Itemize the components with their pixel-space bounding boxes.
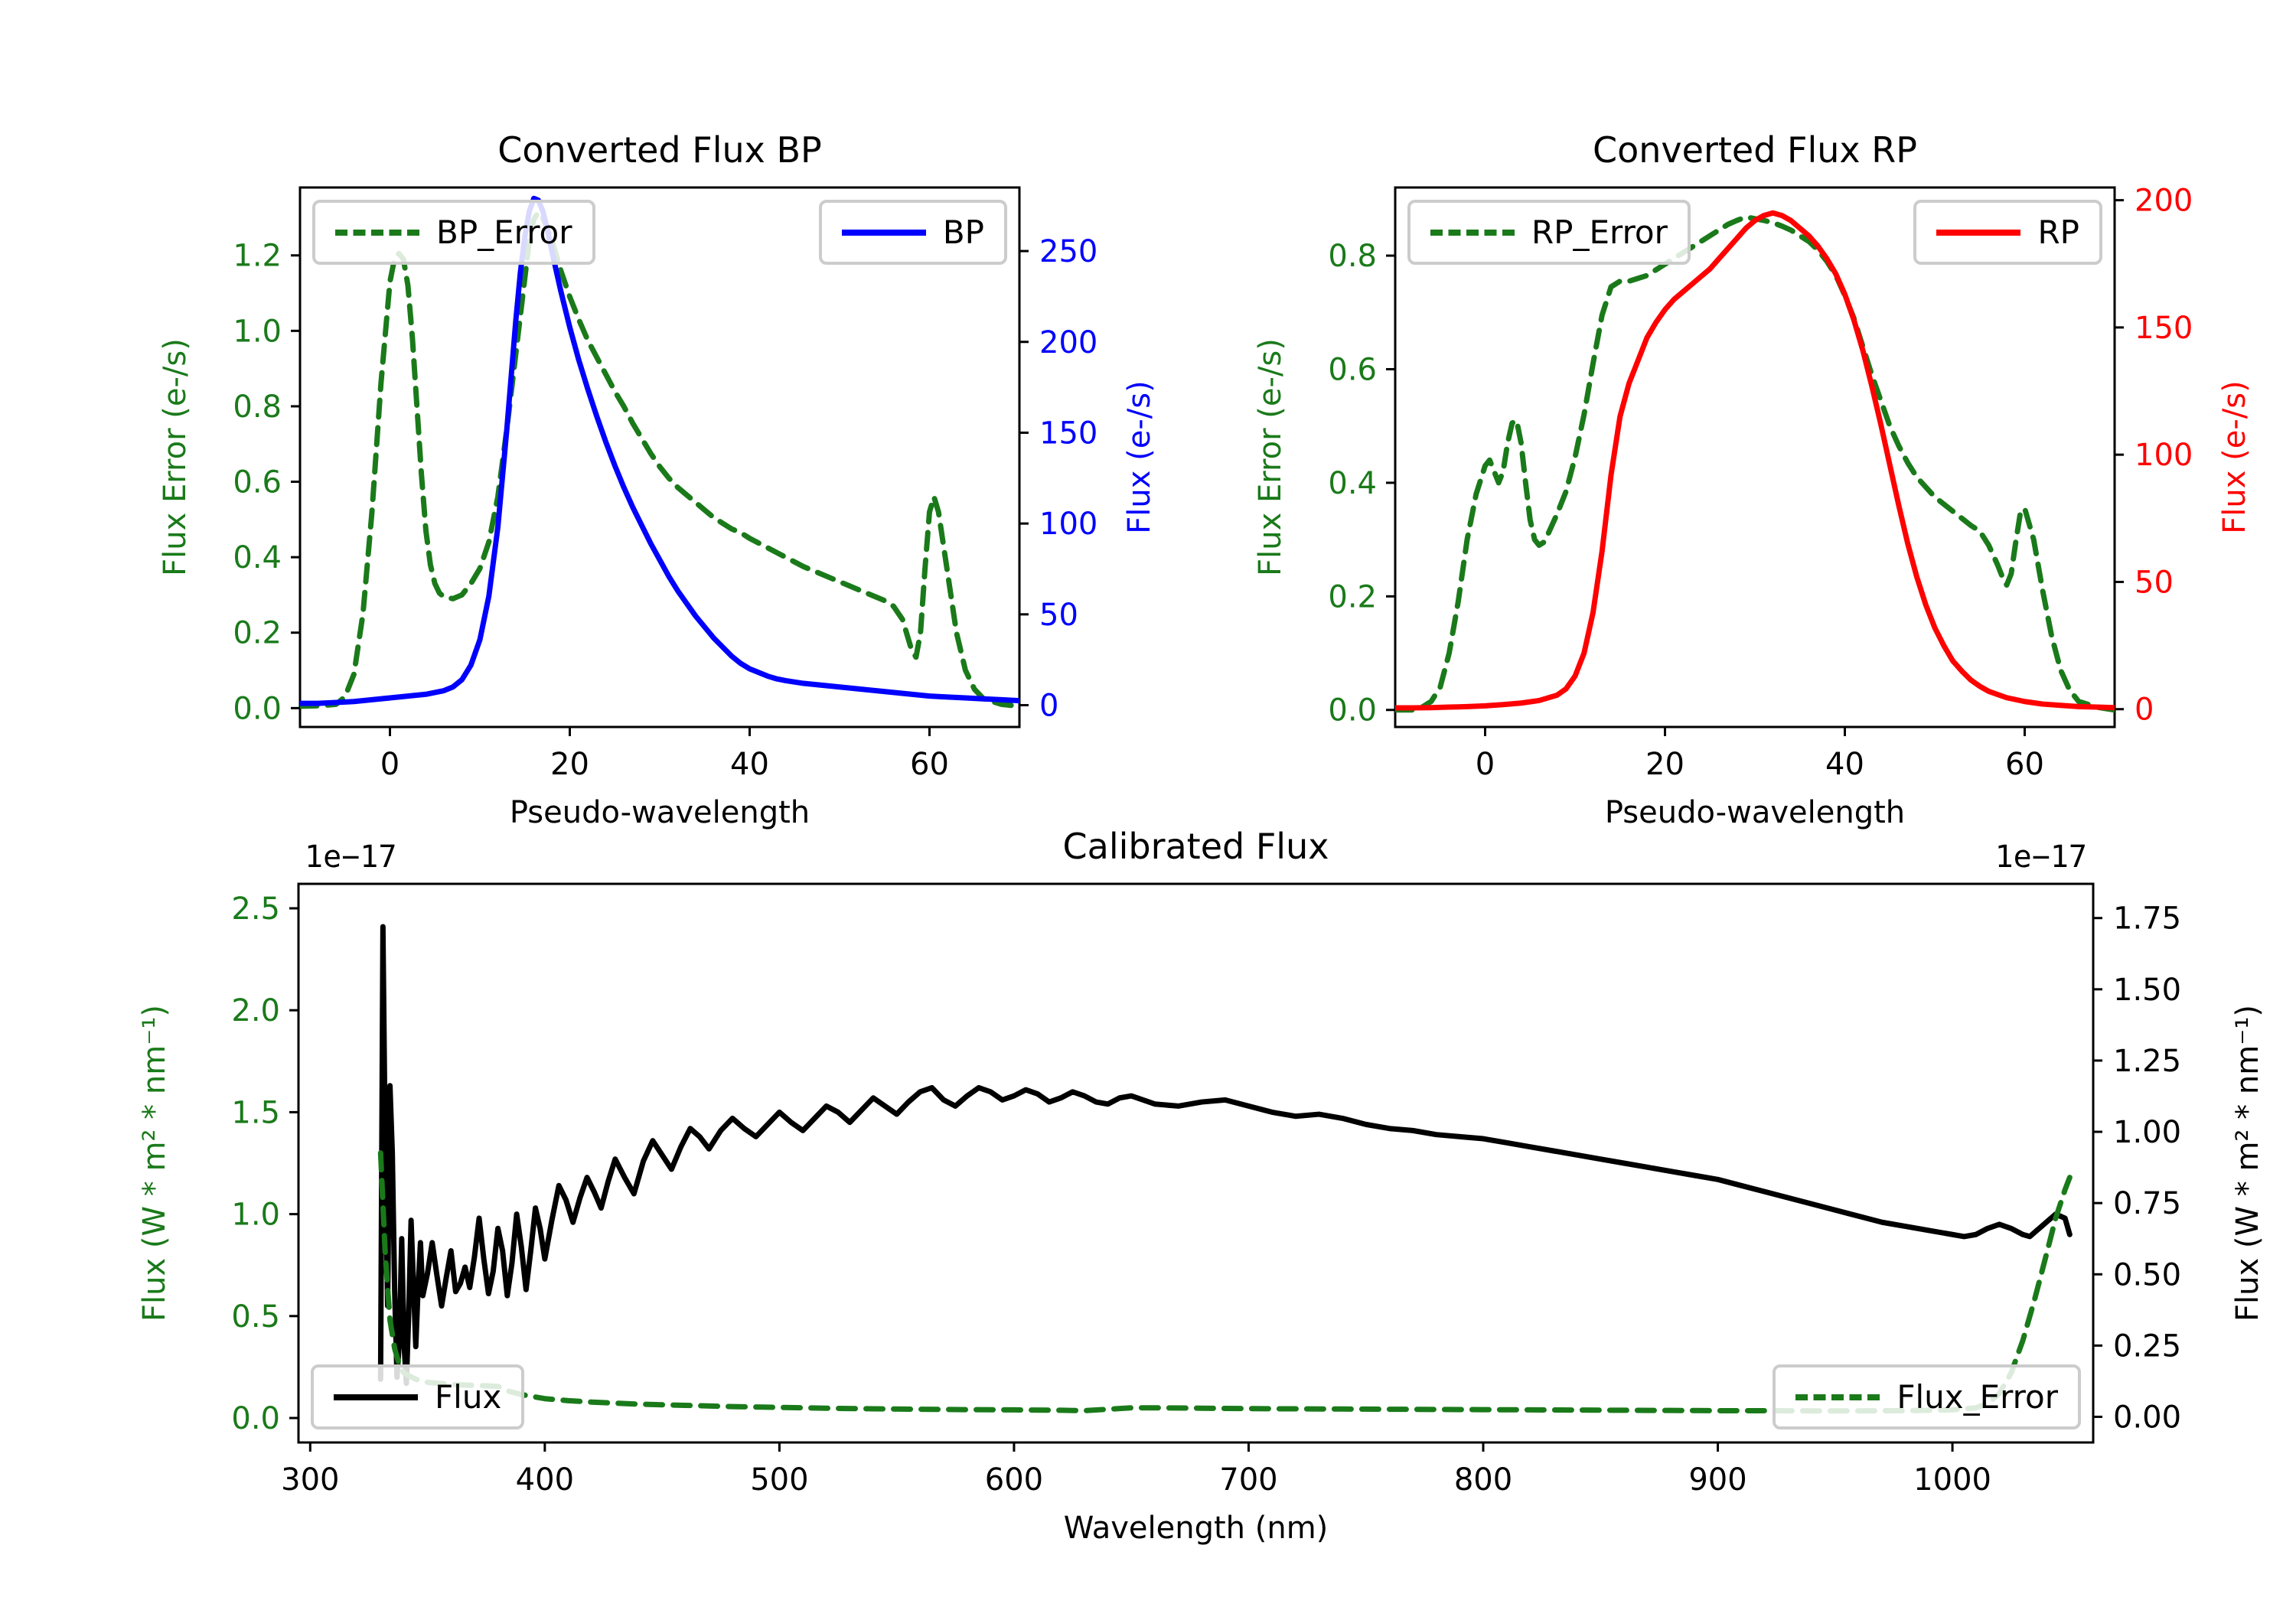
- panel-title: Converted Flux RP: [1593, 129, 1917, 171]
- y-tick-label-left: 0.8: [1328, 239, 1377, 274]
- y-tick-label-left: 1.2: [233, 239, 282, 274]
- y-tick-label-right: 0.75: [2113, 1186, 2181, 1221]
- y-tick-label-right: 0.25: [2113, 1328, 2181, 1364]
- plot-frame: [300, 187, 1019, 727]
- y-tick-label-left: 1.0: [233, 314, 282, 349]
- y-tick-label-left: 0.5: [231, 1299, 280, 1335]
- legend-swatch-flux_error: [1795, 1394, 1880, 1400]
- plot-frame: [298, 884, 2093, 1442]
- y-tick-label-right: 200: [1039, 325, 1097, 360]
- legend-swatch-bp_error: [335, 230, 419, 236]
- y-tick-label-left: 0.4: [233, 540, 282, 575]
- panel-title: Converted Flux BP: [497, 129, 822, 171]
- y-tick-label-right: 100: [1039, 507, 1097, 542]
- series-flux: [380, 927, 2069, 1384]
- x-tick-label: 700: [1219, 1462, 1277, 1498]
- legend-swatch-flux: [334, 1394, 418, 1400]
- legend-label: RP_Error: [1531, 214, 1668, 251]
- y-tick-label-right: 1.00: [2113, 1115, 2181, 1150]
- panel-title: Calibrated Flux: [1063, 826, 1329, 867]
- offset-text-right: 1e−17: [1995, 839, 2087, 875]
- legend-label: BP: [943, 214, 984, 251]
- x-tick-label: 1000: [1913, 1462, 1991, 1498]
- y-axis-title-left: Flux (W * m² * nm⁻¹): [137, 1005, 172, 1322]
- legend-label: Flux_Error: [1896, 1378, 2058, 1416]
- legend-label: Flux: [435, 1378, 501, 1416]
- series-bp: [300, 198, 1019, 703]
- x-tick-label: 800: [1454, 1462, 1512, 1498]
- legend-bp[interactable]: BP: [819, 200, 1007, 265]
- y-tick-label-left: 2.0: [231, 993, 280, 1028]
- legend-swatch-rp: [1936, 230, 2020, 236]
- legend-rp[interactable]: RP: [1913, 200, 2102, 265]
- y-tick-label-left: 0.0: [231, 1401, 280, 1436]
- y-tick-label-right: 0: [1039, 689, 1058, 724]
- offset-text-left: 1e−17: [305, 839, 396, 875]
- x-tick-label: 500: [750, 1462, 808, 1498]
- series-bp_error: [300, 212, 1019, 706]
- x-tick-label: 0: [380, 747, 400, 782]
- y-tick-label-left: 0.6: [233, 465, 282, 500]
- legend-swatch-rp_error: [1430, 230, 1515, 236]
- legend-flux_error[interactable]: Flux_Error: [1773, 1364, 2081, 1429]
- x-tick-label: 20: [550, 747, 589, 782]
- legend-swatch-bp: [842, 230, 926, 236]
- legend-flux[interactable]: Flux: [311, 1364, 524, 1429]
- y-tick-label-left: 0.2: [233, 616, 282, 651]
- x-tick-label: 900: [1688, 1462, 1746, 1498]
- y-tick-label-right: 50: [2135, 565, 2174, 600]
- x-tick-label: 60: [2005, 747, 2044, 782]
- y-tick-label-right: 0.00: [2113, 1400, 2181, 1435]
- x-tick-label: 40: [730, 747, 769, 782]
- x-tick-label: 300: [281, 1462, 339, 1498]
- y-tick-label-left: 0.6: [1328, 352, 1377, 387]
- figure-canvas: 0204060Pseudo-wavelength0.00.20.40.60.81…: [0, 0, 2296, 1607]
- y-tick-label-left: 0.0: [1328, 693, 1377, 729]
- legend-bp_error[interactable]: BP_Error: [312, 200, 595, 265]
- x-tick-label: 600: [985, 1462, 1043, 1498]
- y-tick-label-left: 2.5: [231, 892, 280, 927]
- x-axis-title: Pseudo-wavelength: [1605, 795, 1905, 830]
- y-axis-title-right: Flux (e-/s): [1122, 380, 1157, 533]
- y-axis-title-right: Flux (e-/s): [2217, 380, 2252, 533]
- y-tick-label-right: 250: [1039, 234, 1097, 269]
- y-tick-label-right: 50: [1039, 598, 1078, 633]
- y-tick-label-right: 1.75: [2113, 901, 2181, 937]
- x-tick-label: 20: [1645, 747, 1684, 782]
- x-tick-label: 40: [1825, 747, 1864, 782]
- y-axis-title-left: Flux Error (e-/s): [158, 338, 193, 576]
- y-tick-label-right: 0.50: [2113, 1257, 2181, 1292]
- legend-label: RP: [2037, 214, 2079, 251]
- legend-rp_error[interactable]: RP_Error: [1407, 200, 1691, 265]
- y-tick-label-right: 150: [1039, 416, 1097, 451]
- y-tick-label-right: 1.25: [2113, 1044, 2181, 1079]
- y-tick-label-left: 0.0: [233, 691, 282, 726]
- y-tick-label-right: 0: [2135, 693, 2154, 728]
- x-axis-title: Pseudo-wavelength: [510, 795, 810, 830]
- x-tick-label: 0: [1476, 747, 1495, 782]
- y-tick-label-right: 1.50: [2113, 973, 2181, 1008]
- y-tick-label-left: 0.8: [233, 390, 282, 425]
- y-tick-label-left: 1.0: [231, 1198, 280, 1233]
- plot-frame: [1395, 187, 2115, 727]
- series-rp: [1395, 213, 2115, 708]
- y-axis-title-right: Flux (W * m² * nm⁻¹): [2230, 1005, 2265, 1322]
- x-tick-label: 400: [516, 1462, 574, 1498]
- x-tick-label: 60: [910, 747, 949, 782]
- y-tick-label-left: 0.2: [1328, 579, 1377, 614]
- y-tick-label-right: 200: [2135, 184, 2193, 219]
- y-tick-label-left: 1.5: [231, 1095, 280, 1130]
- series-rp_error: [1395, 217, 2115, 710]
- y-tick-label-right: 100: [2135, 438, 2193, 473]
- y-tick-label-left: 0.4: [1328, 466, 1377, 501]
- y-axis-title-left: Flux Error (e-/s): [1253, 338, 1288, 576]
- y-tick-label-right: 150: [2135, 311, 2193, 346]
- x-axis-title: Wavelength (nm): [1064, 1511, 1329, 1546]
- legend-label: BP_Error: [436, 214, 572, 251]
